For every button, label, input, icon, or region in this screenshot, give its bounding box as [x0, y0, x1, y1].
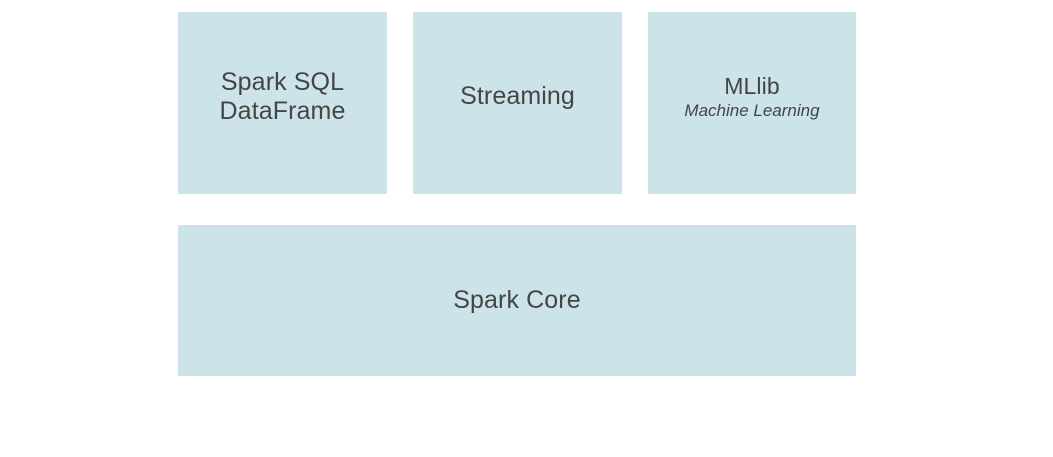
box-subtitle: Machine Learning [684, 101, 819, 121]
node-content: MLlib Machine Learning [684, 73, 819, 121]
node-content: Spark Core [453, 286, 580, 316]
box-title-line-1: Streaming [460, 82, 575, 112]
diagram-box-streaming[interactable]: Streaming [413, 12, 622, 194]
node-content: Streaming [460, 82, 575, 112]
node-content: Spark SQL DataFrame [220, 68, 346, 127]
box-title-line-1: Spark SQL [221, 68, 344, 98]
diagram-box-spark-core[interactable]: Spark Core [178, 225, 856, 376]
diagram-canvas: Spark SQL DataFrame Streaming MLlib Mach… [0, 0, 1053, 457]
box-title-line-1: MLlib [724, 73, 779, 100]
box-title-line-1: Spark Core [453, 286, 580, 316]
diagram-box-spark-sql[interactable]: Spark SQL DataFrame [178, 12, 387, 194]
diagram-box-mllib[interactable]: MLlib Machine Learning [648, 12, 856, 194]
box-title-line-2: DataFrame [220, 97, 346, 127]
